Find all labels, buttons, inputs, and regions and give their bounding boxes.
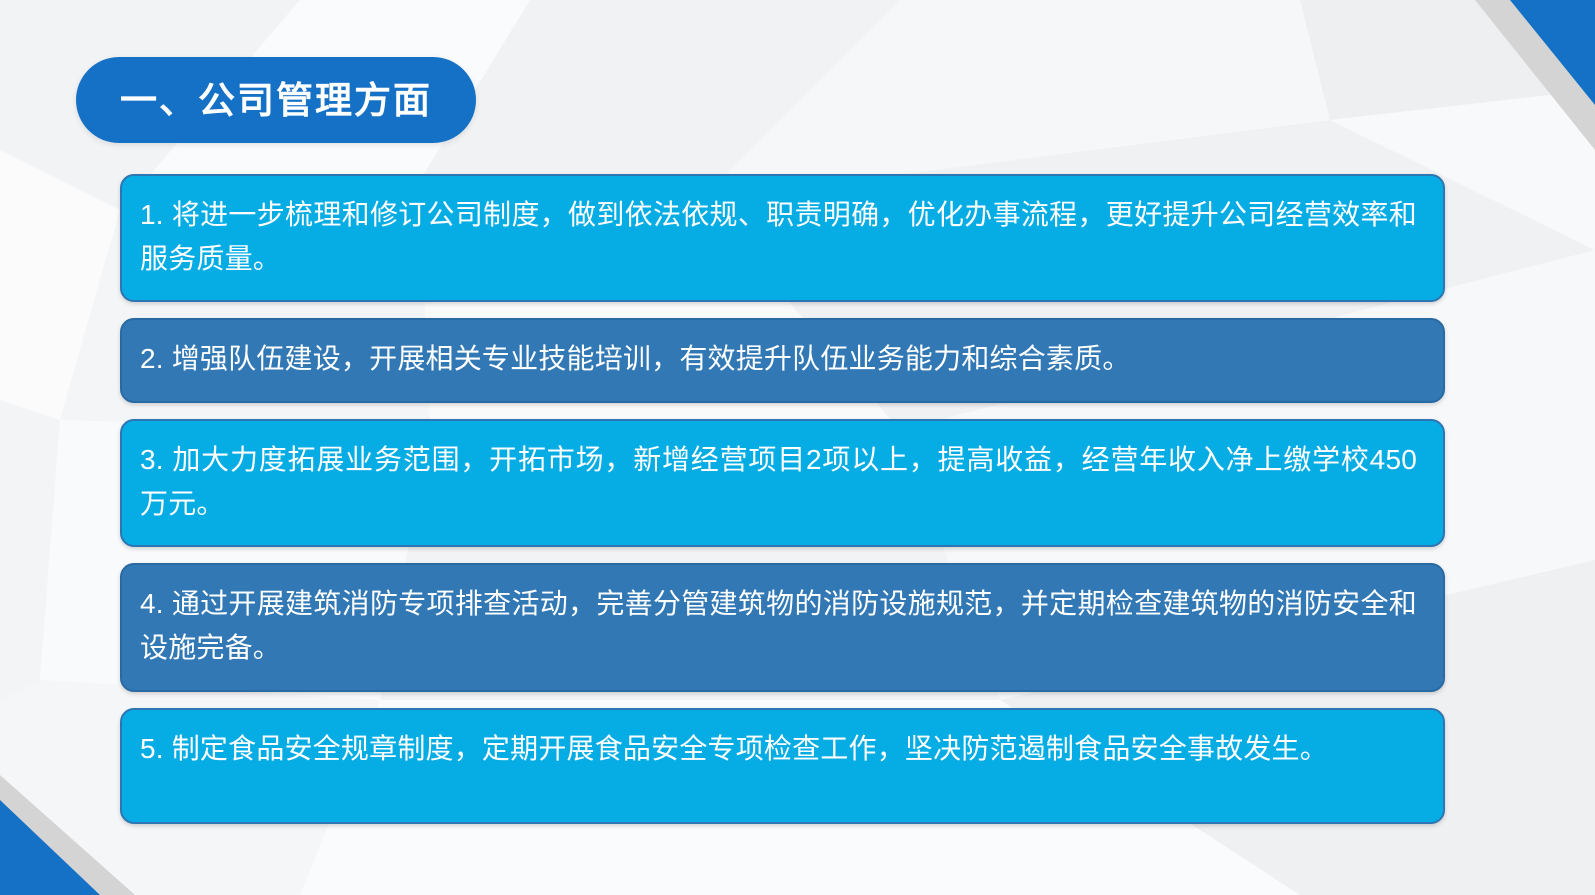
content-bar-2-text: 2. 增强队伍建设，开展相关专业技能培训，有效提升队伍业务能力和综合素质。 [140,337,1131,381]
content-bar-2[interactable]: 2. 增强队伍建设，开展相关专业技能培训，有效提升队伍业务能力和综合素质。 [120,318,1445,402]
content-bar-1[interactable]: 1. 将进一步梳理和修订公司制度，做到依法依规、职责明确，优化办事流程，更好提升… [120,174,1445,302]
slide-canvas: 一、公司管理方面 1. 将进一步梳理和修订公司制度，做到依法依规、职责明确，优化… [0,0,1595,895]
content-bar-5[interactable]: 5. 制定食品安全规章制度，定期开展食品安全专项检查工作，坚决防范遏制食品安全事… [120,708,1445,824]
page-title: 一、公司管理方面 [120,82,432,119]
content-bar-4-text: 4. 通过开展建筑消防专项排查活动，完善分管建筑物的消防设施规范，并定期检查建筑… [140,582,1417,670]
content-bar-3-text: 3. 加大力度拓展业务范围，开拓市场，新增经营项目2项以上，提高收益，经营年收入… [140,438,1417,526]
content-bar-1-text: 1. 将进一步梳理和修订公司制度，做到依法依规、职责明确，优化办事流程，更好提升… [140,193,1417,281]
top-right-corner-decoration [1475,0,1595,150]
content-bar-4[interactable]: 4. 通过开展建筑消防专项排查活动，完善分管建筑物的消防设施规范，并定期检查建筑… [120,563,1445,691]
bottom-left-corner-decoration [0,775,135,895]
content-bar-3[interactable]: 3. 加大力度拓展业务范围，开拓市场，新增经营项目2项以上，提高收益，经营年收入… [120,419,1445,547]
content-bar-list: 1. 将进一步梳理和修订公司制度，做到依法依规、职责明确，优化办事流程，更好提升… [120,174,1445,840]
content-bar-5-text: 5. 制定食品安全规章制度，定期开展食品安全专项检查工作，坚决防范遏制食品安全事… [140,727,1417,771]
section-title-pill: 一、公司管理方面 [76,57,476,143]
